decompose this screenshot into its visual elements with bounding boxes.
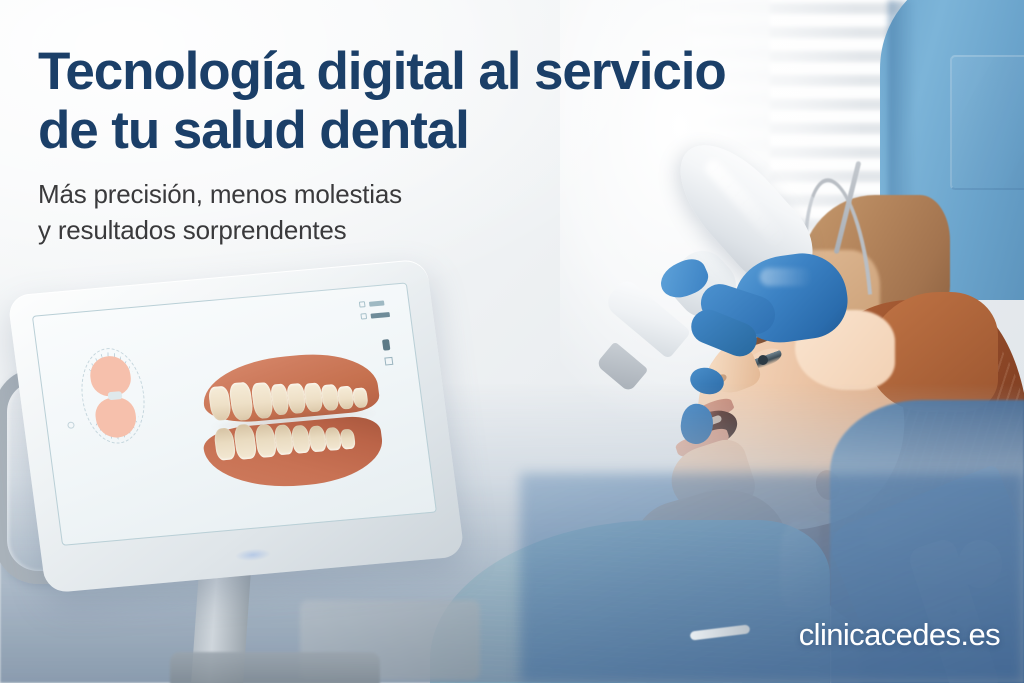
arch-status-dot	[67, 421, 75, 429]
checkbox-icon[interactable]	[360, 313, 367, 319]
hero-banner: Tecnología digital al servicio de tu sal…	[0, 0, 1024, 683]
tooth	[324, 427, 342, 451]
site-watermark: clinicacedes.es	[799, 617, 1000, 653]
tooth	[254, 424, 277, 458]
patient-pupil	[758, 355, 768, 365]
subhead-line-2: y resultados sorprendentes	[38, 213, 838, 249]
checkbox-icon[interactable]	[359, 301, 366, 307]
tooth	[233, 423, 258, 459]
page-subtitle: Más precisión, menos molestias y resulta…	[38, 177, 838, 249]
glove-highlight	[760, 268, 812, 286]
tooth	[303, 382, 324, 412]
monitor-stand-foot	[170, 652, 380, 683]
settings-icon[interactable]	[384, 357, 393, 366]
headline-line-2: de tu salud dental	[38, 101, 838, 160]
toolbar-label-bar	[370, 312, 390, 319]
page-title: Tecnología digital al servicio de tu sal…	[38, 42, 838, 161]
tooth	[213, 427, 236, 460]
arch-midline-marker	[108, 391, 123, 400]
scan-toolbar[interactable]	[359, 299, 391, 325]
capture-icon[interactable]	[382, 339, 390, 351]
tooth	[290, 425, 311, 454]
subhead-line-1: Más precisión, menos molestias	[38, 177, 838, 213]
headline-line-1: Tecnología digital al servicio	[38, 42, 838, 101]
jaw-arch-map-widget[interactable]	[76, 346, 150, 447]
hero-copy: Tecnología digital al servicio de tu sal…	[38, 42, 838, 248]
toolbar-label-bar	[369, 300, 385, 306]
dental-scan-model[interactable]	[193, 348, 394, 493]
tooth	[273, 424, 294, 455]
scanner-monitor[interactable]	[7, 259, 465, 594]
tooth	[308, 425, 327, 452]
scrubs-pocket	[950, 55, 1024, 190]
tooth	[339, 429, 356, 450]
toolbar-row-2[interactable]	[360, 311, 390, 320]
toolbar-row-1[interactable]	[359, 299, 389, 308]
tooth	[208, 386, 232, 421]
monitor-screen[interactable]	[32, 282, 437, 545]
